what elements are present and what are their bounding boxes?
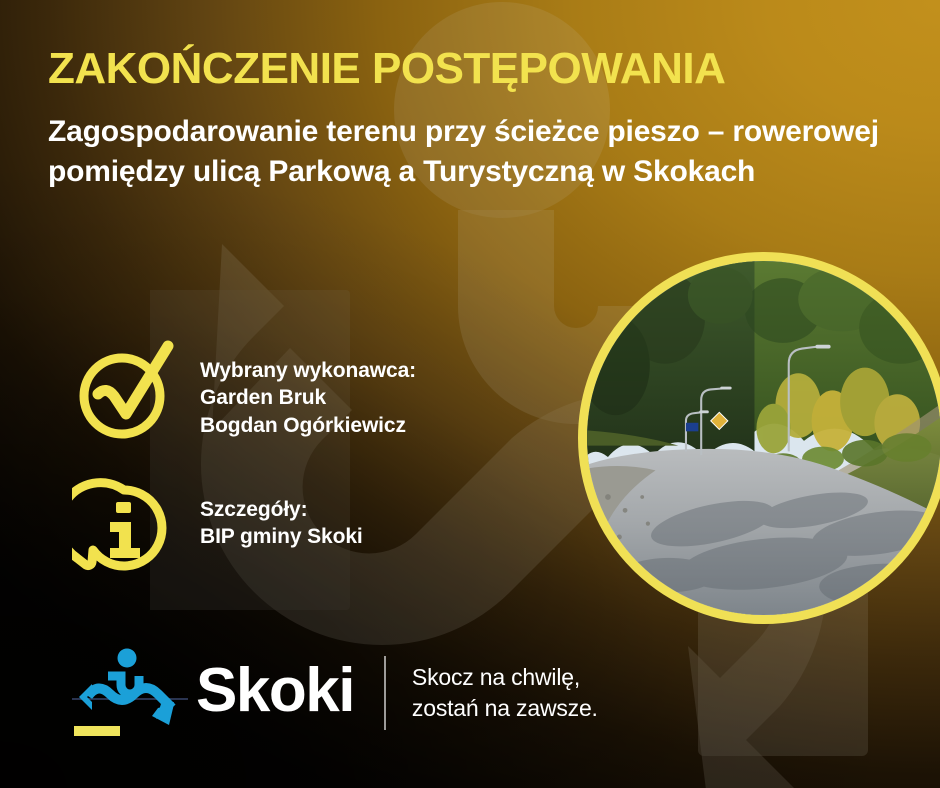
info-row-details-label: Szczegóły: BIP gminy Skoki — [176, 478, 363, 551]
project-photo — [578, 252, 940, 624]
info-bubble-icon — [72, 478, 176, 582]
info-row-details: Szczegóły: BIP gminy Skoki — [72, 478, 363, 582]
page-title: ZAKOŃCZENIE POSTĘPOWANIA — [48, 46, 908, 93]
info-row-contractor: Wybrany wykonawca: Garden Bruk Bogdan Og… — [72, 340, 416, 444]
info-row-contractor-label: Wybrany wykonawca: Garden Bruk Bogdan Og… — [176, 340, 416, 439]
footer-divider — [384, 656, 386, 730]
page-subtitle: Zagospodarowanie terenu przy ścieżce pie… — [48, 112, 888, 192]
poster-root: ZAKOŃCZENIE POSTĘPOWANIA Zagospodarowani… — [0, 0, 940, 788]
brand-tagline: Skocz na chwilę, zostań na zawsze. — [412, 662, 598, 725]
footer-branding: Skoki Skocz na chwilę, zostań na zawsze. — [72, 646, 598, 740]
skoki-runner-icon — [72, 646, 188, 740]
brand-wordmark: Skoki — [188, 660, 354, 726]
check-circle-icon — [72, 340, 176, 444]
